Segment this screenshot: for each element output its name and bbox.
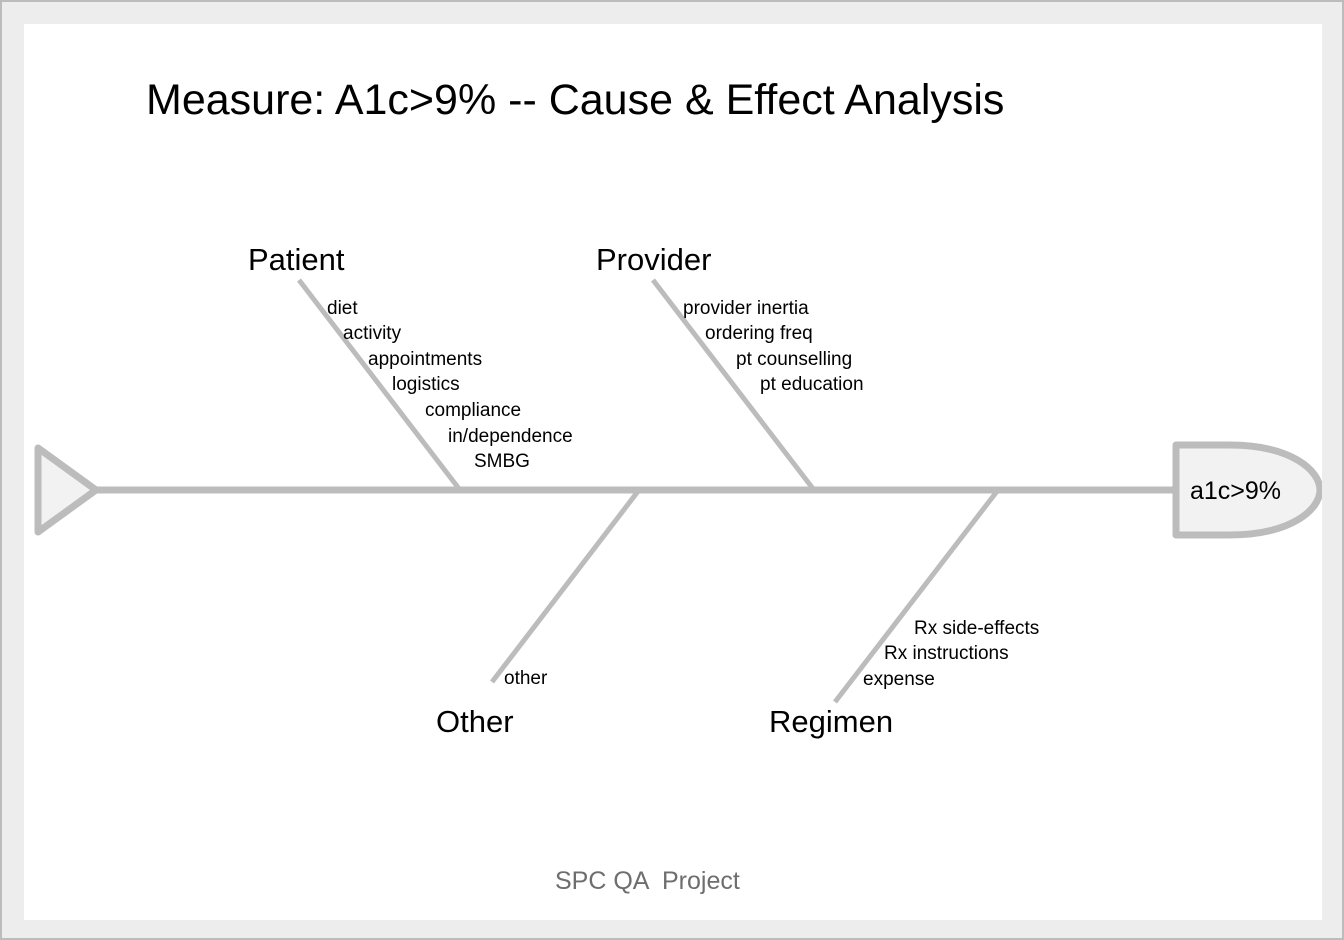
diagram-canvas: Measure: A1c>9% -- Cause & Effect Analys… <box>24 24 1322 920</box>
cause-label: other <box>504 669 547 688</box>
fishbone-tail <box>38 448 96 532</box>
effect-label: a1c>9% <box>1190 479 1281 504</box>
cause-label: pt counselling <box>736 350 852 369</box>
cause-label: Rx instructions <box>884 644 1009 663</box>
cause-label: diet <box>327 299 358 318</box>
cause-label: in/dependence <box>448 427 573 446</box>
cause-label: pt education <box>760 375 864 394</box>
footer-text: SPC QA Project <box>555 869 740 894</box>
cause-label: compliance <box>425 401 521 420</box>
cause-label: appointments <box>368 350 482 369</box>
category-label-patient: Patient <box>248 244 345 275</box>
category-label-regimen: Regimen <box>769 706 893 737</box>
cause-label: provider inertia <box>683 299 809 318</box>
fishbone-diagram <box>24 24 1322 920</box>
cause-label: expense <box>863 670 935 689</box>
category-label-provider: Provider <box>596 244 711 275</box>
cause-label: activity <box>343 324 401 343</box>
page-frame: Measure: A1c>9% -- Cause & Effect Analys… <box>0 0 1344 940</box>
branch-line-other <box>492 490 639 682</box>
cause-label: logistics <box>392 375 460 394</box>
category-label-other: Other <box>436 706 514 737</box>
cause-label: SMBG <box>474 452 530 471</box>
cause-label: Rx side-effects <box>914 619 1039 638</box>
cause-label: ordering freq <box>705 324 813 343</box>
